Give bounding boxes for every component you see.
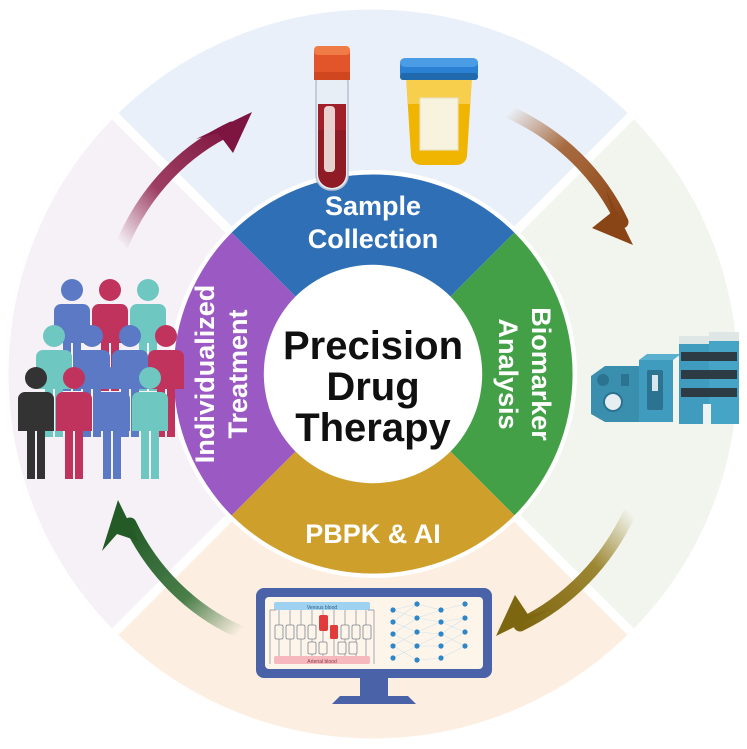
- segment-label-individualized-treatment-line2: Treatment: [223, 309, 253, 438]
- precision-drug-therapy-diagram: Sample Collection Biomarker Analysis PBP…: [0, 0, 747, 749]
- urine-cup-icon: [400, 58, 478, 165]
- segment-label-sample-collection-line2: Collection: [308, 224, 439, 254]
- hub-label-line2: Drug: [326, 365, 419, 409]
- pbpk-arterial-label: Arterial blood: [307, 659, 337, 665]
- segment-label-sample-collection-line1: Sample: [325, 191, 421, 221]
- segment-label-biomarker-analysis-line1: Biomarker: [526, 307, 556, 441]
- segment-label-biomarker-analysis-line2: Analysis: [493, 318, 523, 429]
- segment-label-individualized-treatment-line1: Individualized: [190, 285, 220, 464]
- hub-label-line1: Precision: [283, 324, 463, 368]
- pbpk-venous-label: Venous blood: [307, 605, 338, 611]
- segment-label-pbpk-and-ai: PBPK & AI: [305, 519, 441, 549]
- blood-tube-icon: [314, 46, 350, 190]
- figure-canvas: Sample Collection Biomarker Analysis PBP…: [0, 0, 747, 749]
- hub-label-line3: Therapy: [295, 406, 451, 450]
